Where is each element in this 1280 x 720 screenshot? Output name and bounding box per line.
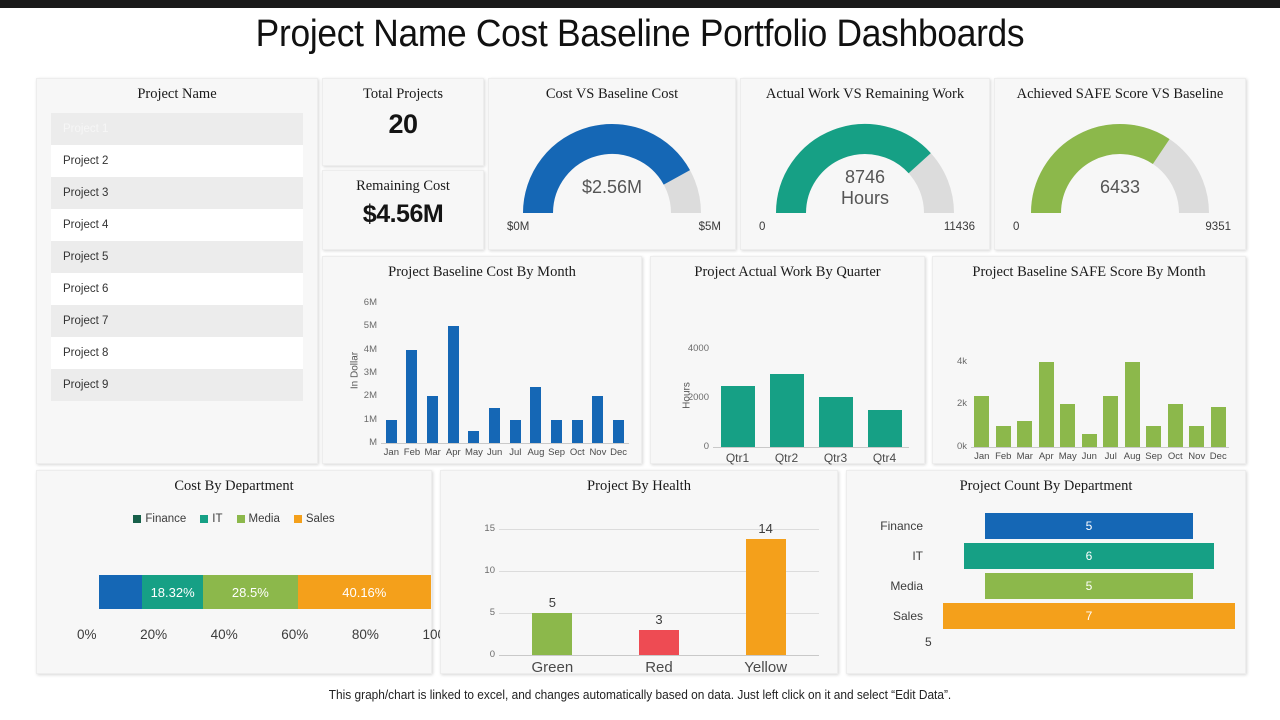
bar bbox=[1189, 426, 1204, 447]
x-axis-ticks: JanFebMarAprMayJunJulAugSepOctNovDec bbox=[381, 447, 629, 458]
bar bbox=[746, 539, 786, 655]
bar-slot: 3 bbox=[606, 521, 713, 655]
project-list-item[interactable]: Project 3 bbox=[51, 177, 303, 209]
y-axis-tick: 4k bbox=[937, 356, 967, 367]
x-axis-tick: Jun bbox=[1079, 451, 1101, 462]
bar-data-label: 14 bbox=[758, 521, 772, 536]
project-list-item[interactable]: Project 5 bbox=[51, 241, 303, 273]
y-axis-tick: 15 bbox=[465, 523, 495, 534]
bar bbox=[386, 420, 397, 443]
bar-group: 5314 bbox=[499, 521, 819, 655]
page-title: Project Name Cost Baseline Portfolio Das… bbox=[45, 10, 1235, 58]
bar bbox=[996, 426, 1011, 447]
safe-score-month-chart: 4k2k0kJanFebMarAprMayJunJulAugSepOctNovD… bbox=[933, 281, 1245, 449]
bar-group bbox=[713, 349, 909, 447]
x-axis-line bbox=[971, 447, 1229, 448]
bar-slot bbox=[464, 303, 485, 443]
total-projects-card: Total Projects 20 bbox=[322, 78, 484, 166]
actual-work-title: Actual Work VS Remaining Work bbox=[741, 79, 989, 103]
safe-score-title: Achieved SAFE Score VS Baseline bbox=[995, 79, 1245, 103]
x-axis-tick: Aug bbox=[526, 447, 547, 458]
y-axis-tick: 0k bbox=[937, 441, 967, 452]
gauge-arc bbox=[512, 105, 712, 225]
project-count-panel: Project Count By Department Finance5IT6M… bbox=[846, 470, 1246, 674]
project-count-title: Project Count By Department bbox=[847, 471, 1245, 495]
x-axis-tick: Qtr4 bbox=[860, 451, 909, 465]
project-name-panel: Project Name Project 1Project 2Project 3… bbox=[36, 78, 318, 464]
count-bar-row: Finance5 bbox=[847, 511, 1245, 541]
y-axis-tick: 5M bbox=[347, 320, 377, 331]
project-list[interactable]: Project 1Project 2Project 3Project 4Proj… bbox=[51, 113, 303, 401]
project-by-health-title: Project By Health bbox=[441, 471, 837, 495]
actual-work-gauge: 8746Hours011436 bbox=[741, 105, 989, 235]
actual-work-quarter-panel: Project Actual Work By Quarter Hours4000… bbox=[650, 256, 925, 464]
legend-swatch-icon bbox=[294, 515, 302, 523]
bar bbox=[448, 326, 459, 443]
remaining-cost-title: Remaining Cost bbox=[323, 171, 483, 195]
legend-label: Media bbox=[249, 513, 280, 525]
x-axis-tick: Dec bbox=[1208, 451, 1230, 462]
y-axis-tick: 1M bbox=[347, 414, 377, 425]
x-axis-tick: Red bbox=[606, 659, 713, 676]
bar-slot bbox=[762, 349, 811, 447]
x-axis-tick: Qtr2 bbox=[762, 451, 811, 465]
gauge-value-number: 8746 bbox=[741, 167, 989, 188]
count-bar-track: 5 bbox=[933, 513, 1245, 539]
bar-slot bbox=[505, 303, 526, 443]
count-bar-track: 5 bbox=[933, 573, 1245, 599]
bar bbox=[572, 420, 583, 443]
project-by-health-panel: Project By Health 1510505314GreenRedYell… bbox=[440, 470, 838, 674]
project-list-item[interactable]: Project 8 bbox=[51, 337, 303, 369]
top-black-bar bbox=[0, 0, 1280, 8]
x-axis-tick: 0% bbox=[77, 627, 97, 642]
bar-slot bbox=[1079, 349, 1101, 447]
x-axis-tick: Qtr3 bbox=[811, 451, 860, 465]
count-bar-label: Finance bbox=[847, 519, 933, 533]
bar bbox=[770, 374, 804, 448]
y-axis-tick: 4M bbox=[347, 344, 377, 355]
x-axis-tick: Dec bbox=[608, 447, 629, 458]
y-axis-tick: 0 bbox=[679, 441, 709, 452]
project-count-axis-label: 5 bbox=[847, 635, 1245, 649]
x-axis-tick: 60% bbox=[281, 627, 308, 642]
x-axis-tick: Oct bbox=[1165, 451, 1187, 462]
x-axis-tick: Apr bbox=[443, 447, 464, 458]
count-bar: 5 bbox=[985, 513, 1194, 539]
x-axis-tick: Mar bbox=[422, 447, 443, 458]
count-bar-row: IT6 bbox=[847, 541, 1245, 571]
bar-slot bbox=[381, 303, 402, 443]
bar bbox=[1082, 434, 1097, 447]
x-axis-tick: Feb bbox=[402, 447, 423, 458]
x-axis-line bbox=[499, 655, 819, 656]
bar bbox=[613, 420, 624, 443]
bar-slot bbox=[713, 349, 762, 447]
project-list-item[interactable]: Project 1 bbox=[51, 113, 303, 145]
bar bbox=[530, 387, 541, 443]
bar bbox=[1125, 362, 1140, 447]
bar bbox=[1211, 407, 1226, 447]
baseline-cost-chart: In Dollar6M5M4M3M2M1MMJanFebMarAprMayJun… bbox=[323, 281, 641, 449]
x-axis-ticks: JanFebMarAprMayJunJulAugSepOctNovDec bbox=[971, 451, 1229, 462]
x-axis-tick: Nov bbox=[1186, 451, 1208, 462]
x-axis-tick: Mar bbox=[1014, 451, 1036, 462]
project-list-item[interactable]: Project 6 bbox=[51, 273, 303, 305]
legend-swatch-icon bbox=[237, 515, 245, 523]
bar-slot bbox=[1186, 349, 1208, 447]
bar bbox=[592, 396, 603, 443]
project-list-item[interactable]: Project 7 bbox=[51, 305, 303, 337]
bar-group bbox=[971, 349, 1229, 447]
bar-slot bbox=[588, 303, 609, 443]
bar-slot bbox=[484, 303, 505, 443]
gauge-value: 8746Hours bbox=[741, 167, 989, 209]
legend-label: IT bbox=[212, 513, 222, 525]
actual-work-quarter-title: Project Actual Work By Quarter bbox=[651, 257, 924, 281]
count-bar-track: 7 bbox=[933, 603, 1245, 629]
bar-slot bbox=[1143, 349, 1165, 447]
legend-item: Finance bbox=[133, 513, 186, 525]
safe-score-month-title: Project Baseline SAFE Score By Month bbox=[933, 257, 1245, 281]
bar-slot bbox=[993, 349, 1015, 447]
legend-item: Media bbox=[237, 513, 280, 525]
bar-slot bbox=[1036, 349, 1058, 447]
cost-vs-baseline-title: Cost VS Baseline Cost bbox=[489, 79, 735, 103]
cost-by-department-stacked-bar: 18.32%28.5%40.16% bbox=[99, 575, 431, 609]
cost-by-department-panel: Cost By Department FinanceITMediaSales 1… bbox=[36, 470, 432, 674]
cost-by-department-title: Cost By Department bbox=[37, 471, 431, 495]
bar bbox=[551, 420, 562, 443]
legend-item: Sales bbox=[294, 513, 335, 525]
bar-slot bbox=[422, 303, 443, 443]
bar bbox=[639, 630, 679, 655]
y-axis-tick: 5 bbox=[465, 607, 495, 618]
count-bar-row: Sales7 bbox=[847, 601, 1245, 631]
legend-label: Finance bbox=[145, 513, 186, 525]
bar-slot bbox=[546, 303, 567, 443]
gauge-max-label: $5M bbox=[699, 221, 721, 233]
actual-work-quarter-chart: Hours400020000Qtr1Qtr2Qtr3Qtr4 bbox=[651, 281, 924, 449]
bar-slot bbox=[811, 349, 860, 447]
count-bar-label: Sales bbox=[847, 609, 933, 623]
x-axis-tick: Apr bbox=[1036, 451, 1058, 462]
cost-vs-baseline-gauge-panel: Cost VS Baseline Cost $2.56M$0M$5M bbox=[488, 78, 736, 250]
gauge-unit-label: Hours bbox=[741, 188, 989, 209]
bar-slot bbox=[1057, 349, 1079, 447]
count-bar-label: IT bbox=[847, 549, 933, 563]
bar-slot bbox=[1208, 349, 1230, 447]
x-axis-tick: May bbox=[464, 447, 485, 458]
stack-segment bbox=[99, 575, 142, 609]
y-axis-tick: 10 bbox=[465, 565, 495, 576]
x-axis-tick: Nov bbox=[588, 447, 609, 458]
y-axis-tick: 0 bbox=[465, 649, 495, 660]
safe-score-gauge-panel: Achieved SAFE Score VS Baseline 64330935… bbox=[994, 78, 1246, 250]
gauge-value: 6433 bbox=[995, 177, 1245, 198]
project-list-title: Project Name bbox=[37, 79, 317, 103]
x-axis-tick: Feb bbox=[993, 451, 1015, 462]
bar bbox=[406, 350, 417, 443]
legend-swatch-icon bbox=[200, 515, 208, 523]
remaining-cost-value: $4.56M bbox=[323, 200, 483, 229]
y-axis-tick: 3M bbox=[347, 367, 377, 378]
stack-segment: 18.32% bbox=[142, 575, 203, 609]
project-list-item[interactable]: Project 4 bbox=[51, 209, 303, 241]
project-by-health-chart: 1510505314GreenRedYellow bbox=[441, 495, 837, 673]
stack-segment: 28.5% bbox=[203, 575, 298, 609]
bar bbox=[532, 613, 572, 655]
gauge-min-label: 0 bbox=[759, 221, 765, 233]
total-projects-value: 20 bbox=[323, 109, 483, 140]
gauge-value: $2.56M bbox=[489, 177, 735, 198]
x-axis-tick: Oct bbox=[567, 447, 588, 458]
bar-slot bbox=[443, 303, 464, 443]
bar bbox=[819, 397, 853, 447]
bar bbox=[1168, 404, 1183, 447]
bar-group bbox=[381, 303, 629, 443]
y-axis-tick: 4000 bbox=[679, 343, 709, 354]
x-axis-tick: 80% bbox=[352, 627, 379, 642]
x-axis-tick: Jan bbox=[381, 447, 402, 458]
bar-slot bbox=[402, 303, 423, 443]
baseline-cost-title: Project Baseline Cost By Month bbox=[323, 257, 641, 281]
bar bbox=[1060, 404, 1075, 447]
bar-data-label: 5 bbox=[549, 595, 556, 610]
bar bbox=[468, 431, 479, 443]
x-axis-tick: Qtr1 bbox=[713, 451, 762, 465]
legend-item: IT bbox=[200, 513, 222, 525]
legend-label: Sales bbox=[306, 513, 335, 525]
bar bbox=[1146, 426, 1161, 447]
x-axis-ticks: Qtr1Qtr2Qtr3Qtr4 bbox=[713, 451, 909, 465]
stack-segment: 40.16% bbox=[298, 575, 431, 609]
count-bar-label: Media bbox=[847, 579, 933, 593]
x-axis-tick: 20% bbox=[140, 627, 167, 642]
bar-slot bbox=[608, 303, 629, 443]
bar-slot bbox=[1165, 349, 1187, 447]
bar bbox=[868, 410, 902, 447]
x-axis-tick: Jul bbox=[1100, 451, 1122, 462]
gauge-max-label: 11436 bbox=[944, 221, 975, 233]
total-projects-title: Total Projects bbox=[323, 79, 483, 103]
safe-score-month-panel: Project Baseline SAFE Score By Month 4k2… bbox=[932, 256, 1246, 464]
bar-slot bbox=[1014, 349, 1036, 447]
bar bbox=[1103, 396, 1118, 447]
gauge-min-label: 0 bbox=[1013, 221, 1019, 233]
count-bar: 7 bbox=[943, 603, 1235, 629]
project-list-item[interactable]: Project 2 bbox=[51, 145, 303, 177]
bar bbox=[510, 420, 521, 443]
footer-note: This graph/chart is linked to excel, and… bbox=[32, 688, 1248, 702]
bar bbox=[489, 408, 500, 443]
x-axis-tick: Sep bbox=[1143, 451, 1165, 462]
gauge-arc bbox=[1020, 105, 1220, 225]
x-axis-line bbox=[713, 447, 909, 448]
project-list-item[interactable]: Project 9 bbox=[51, 369, 303, 401]
y-axis-tick: M bbox=[347, 437, 377, 448]
count-bar: 6 bbox=[964, 543, 1214, 569]
cost-vs-baseline-gauge: $2.56M$0M$5M bbox=[489, 105, 735, 235]
x-axis-tick: Jan bbox=[971, 451, 993, 462]
y-axis-tick: 2000 bbox=[679, 392, 709, 403]
x-axis-tick: Yellow bbox=[712, 659, 819, 676]
project-count-bars: Finance5IT6Media5Sales7 bbox=[847, 511, 1245, 631]
bar bbox=[427, 396, 438, 443]
y-axis-tick: 2M bbox=[347, 390, 377, 401]
remaining-cost-card: Remaining Cost $4.56M bbox=[322, 170, 484, 250]
bar-slot: 14 bbox=[712, 521, 819, 655]
bar-slot bbox=[1122, 349, 1144, 447]
bar-slot: 5 bbox=[499, 521, 606, 655]
bar bbox=[1017, 421, 1032, 447]
y-axis-tick: 2k bbox=[937, 398, 967, 409]
bar bbox=[974, 396, 989, 447]
x-axis-tick: Green bbox=[499, 659, 606, 676]
safe-score-gauge: 643309351 bbox=[995, 105, 1245, 235]
bar bbox=[721, 386, 755, 447]
count-bar-row: Media5 bbox=[847, 571, 1245, 601]
x-axis-tick: May bbox=[1057, 451, 1079, 462]
gauge-min-label: $0M bbox=[507, 221, 529, 233]
gauge-max-label: 9351 bbox=[1205, 221, 1231, 233]
x-axis-tick: Sep bbox=[546, 447, 567, 458]
legend-swatch-icon bbox=[133, 515, 141, 523]
bar-slot bbox=[971, 349, 993, 447]
x-axis-tick: 40% bbox=[211, 627, 238, 642]
cost-by-department-legend: FinanceITMediaSales bbox=[37, 513, 431, 525]
bar-slot bbox=[1100, 349, 1122, 447]
bar bbox=[1039, 362, 1054, 447]
y-axis-tick: 6M bbox=[347, 297, 377, 308]
baseline-cost-panel: Project Baseline Cost By Month In Dollar… bbox=[322, 256, 642, 464]
count-bar: 5 bbox=[985, 573, 1194, 599]
x-axis-line bbox=[381, 443, 629, 444]
x-axis-ticks: GreenRedYellow bbox=[499, 659, 819, 676]
x-axis-tick: Jun bbox=[484, 447, 505, 458]
bar-slot bbox=[860, 349, 909, 447]
bar-data-label: 3 bbox=[655, 612, 662, 627]
cost-by-department-x-axis: 0%20%40%60%80%100% bbox=[77, 627, 457, 642]
bar-slot bbox=[567, 303, 588, 443]
bar-slot bbox=[526, 303, 547, 443]
x-axis-tick: Aug bbox=[1122, 451, 1144, 462]
actual-work-gauge-panel: Actual Work VS Remaining Work 8746Hours0… bbox=[740, 78, 990, 250]
count-bar-track: 6 bbox=[933, 543, 1245, 569]
x-axis-tick: Jul bbox=[505, 447, 526, 458]
